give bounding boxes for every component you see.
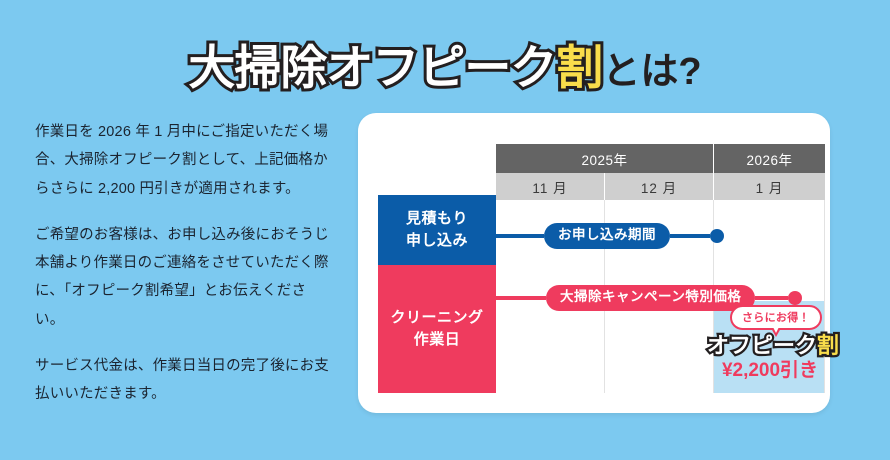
page-title-highlight: 割 xyxy=(556,41,602,94)
page-title-main: 大掃除オフピーク xyxy=(188,41,556,94)
row-label-estimate-line1: 見積もり xyxy=(406,208,468,230)
description-paragraph-3: サービス代金は、作業日当日の完了後にお支払いいただきます。 xyxy=(35,352,335,409)
page-title: 大掃除オフピーク割とは? xyxy=(0,44,890,91)
row-label-estimate: 見積もり 申し込み xyxy=(378,195,496,265)
page-title-tail: とは? xyxy=(602,51,701,93)
header-year-2026: 2026年 xyxy=(714,144,825,173)
bar-line-left xyxy=(496,234,544,238)
extra-deal-badge: さらにお得！ xyxy=(730,305,822,330)
slide-root: 大掃除オフピーク割とは? 作業日を 2026 年 1 月中にご指定いただく場合、… xyxy=(0,0,890,460)
row-label-estimate-line2: 申し込み xyxy=(406,230,468,252)
offpeak-discount-price: ¥2,200引き xyxy=(707,361,833,380)
description-paragraph-1: 作業日を 2026 年 1 月中にご指定いただく場合、大掃除オフピーク割として、… xyxy=(35,118,335,203)
bar-line-right xyxy=(670,234,710,238)
bar-label-campaign-price: 大掃除キャンペーン特別価格 xyxy=(546,285,755,311)
bar-line-right xyxy=(755,296,788,300)
bar-end-dot xyxy=(710,229,724,243)
schedule-grid: 2025年 2026年 11 月 12 月 1 月 見積もり 申し込み クリーニ… xyxy=(358,113,830,413)
bar-application-period: お申し込み期間 xyxy=(496,223,724,249)
offpeak-discount-title-main: オフピーク xyxy=(707,333,817,358)
description-block: 作業日を 2026 年 1 月中にご指定いただく場合、大掃除オフピーク割として、… xyxy=(35,118,335,408)
offpeak-discount-title: オフピーク割 xyxy=(707,335,833,357)
bar-label-application-period: お申し込み期間 xyxy=(544,223,670,249)
header-month-11: 11 月 xyxy=(496,173,604,200)
bar-end-dot xyxy=(788,291,802,305)
row-label-cleaning-line2: 作業日 xyxy=(414,329,461,351)
description-paragraph-2: ご希望のお客様は、お申し込み後におそうじ本舗より作業日のご連絡をさせていただく際… xyxy=(35,221,335,334)
offpeak-discount-title-highlight: 割 xyxy=(817,333,839,358)
bar-line-left xyxy=(415,296,546,300)
header-month-12: 12 月 xyxy=(605,173,713,200)
header-year-2025: 2025年 xyxy=(496,144,713,173)
header-month-1: 1 月 xyxy=(714,173,825,200)
